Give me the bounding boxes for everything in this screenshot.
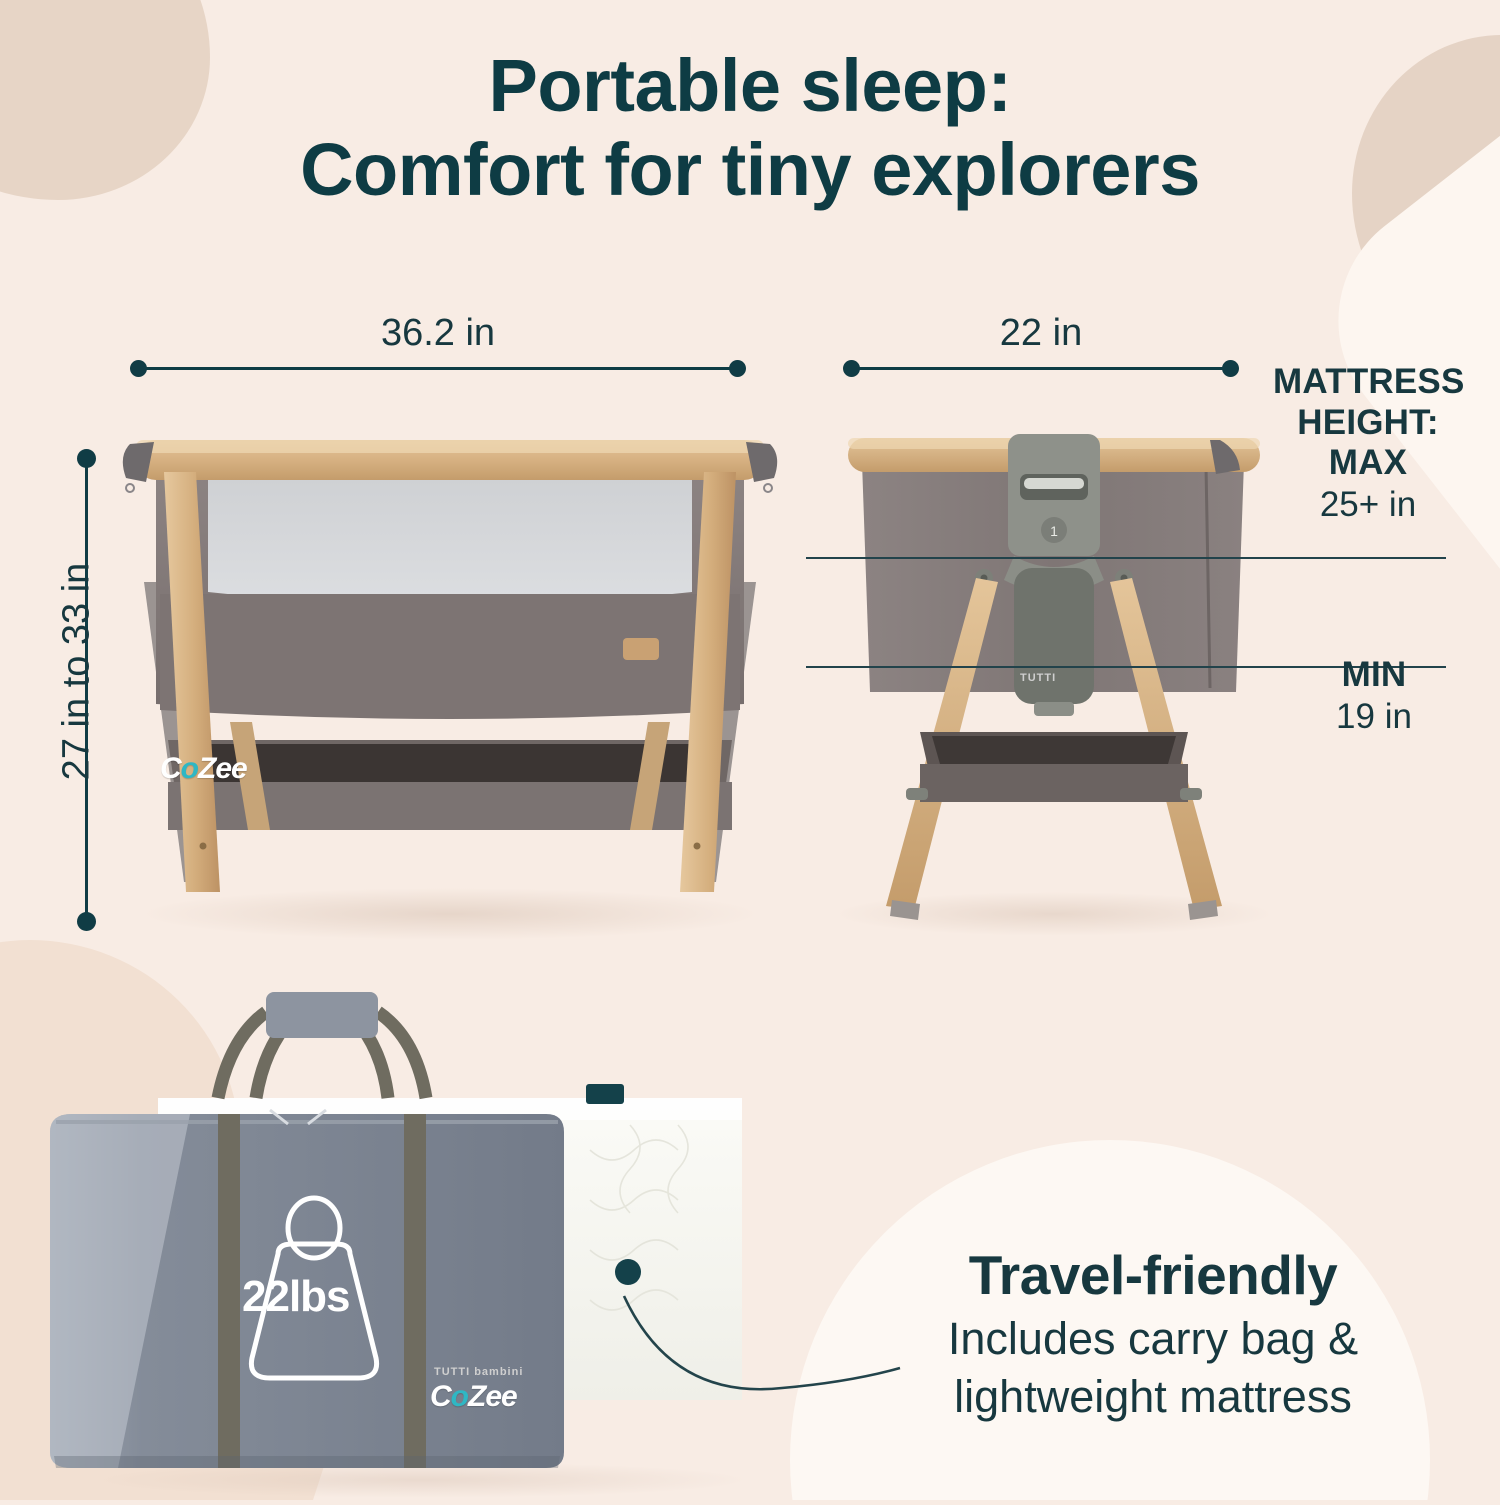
cozee-logo-bag: CoZee [430, 1380, 517, 1414]
mattress-height-min-label: MIN 19 in [1289, 655, 1459, 738]
infographic-canvas: Portable sleep: Comfort for tiny explore… [0, 0, 1500, 1500]
dimension-endpoint-left-icon [130, 360, 147, 377]
mattress-max-line-2: HEIGHT: [1273, 403, 1463, 444]
mattress-height-max-label: MATTRESS HEIGHT: MAX 25+ in [1273, 362, 1463, 526]
tutti-bambini-logo-bag: TUTTI bambini [434, 1366, 523, 1378]
dimension-endpoint-bottom-icon [77, 912, 96, 931]
bag-mattress-svg [30, 980, 820, 1500]
dimension-width-side-label: 22 in [845, 312, 1237, 355]
dimension-endpoint-left-icon [843, 360, 860, 377]
feature-subtitle-line-2: lightweight mattress [848, 1372, 1458, 1422]
headline-line-1: Portable sleep: [488, 44, 1011, 127]
mattress-max-line-1: MATTRESS [1273, 362, 1463, 403]
feature-subtitle-line-1: Includes carry bag & [848, 1314, 1458, 1364]
crib-front-svg [100, 422, 800, 942]
headline-line-2: Comfort for tiny explorers [0, 128, 1500, 212]
dimension-width-front-label: 36.2 in [132, 312, 744, 355]
mattress-max-rule [806, 557, 1446, 559]
mattress-min-value: 19 in [1289, 696, 1459, 738]
feature-title: Travel-friendly [848, 1245, 1458, 1306]
dimension-line [132, 367, 744, 370]
dimension-endpoint-right-icon [1222, 360, 1239, 377]
travel-friendly-block: Travel-friendly Includes carry bag & lig… [848, 1245, 1458, 1422]
weight-badge: 22lbs [242, 1272, 350, 1322]
tutti-bambini-logo-side: TUTTI [1020, 672, 1056, 684]
adjuster-step-number: 1 [1050, 523, 1058, 539]
page-title: Portable sleep: Comfort for tiny explore… [0, 44, 1500, 211]
crib-front-view-image: CoZee [100, 422, 800, 942]
crib-side-view-image: 1 TUTTI [828, 420, 1280, 940]
dimension-line [845, 367, 1237, 370]
mattress-min-title: MIN [1289, 655, 1459, 696]
dimension-endpoint-right-icon [729, 360, 746, 377]
dimension-height-label: 27 in to 33 in [56, 442, 99, 902]
carry-bag-and-mattress-image: 22lbs TUTTI bambini CoZee [30, 980, 820, 1500]
mattress-max-line-3: MAX [1273, 443, 1463, 484]
cozee-logo-front: CoZee [160, 752, 247, 786]
mattress-max-value: 25+ in [1273, 484, 1463, 526]
dimension-height-front: 27 in to 33 in [85, 455, 88, 925]
